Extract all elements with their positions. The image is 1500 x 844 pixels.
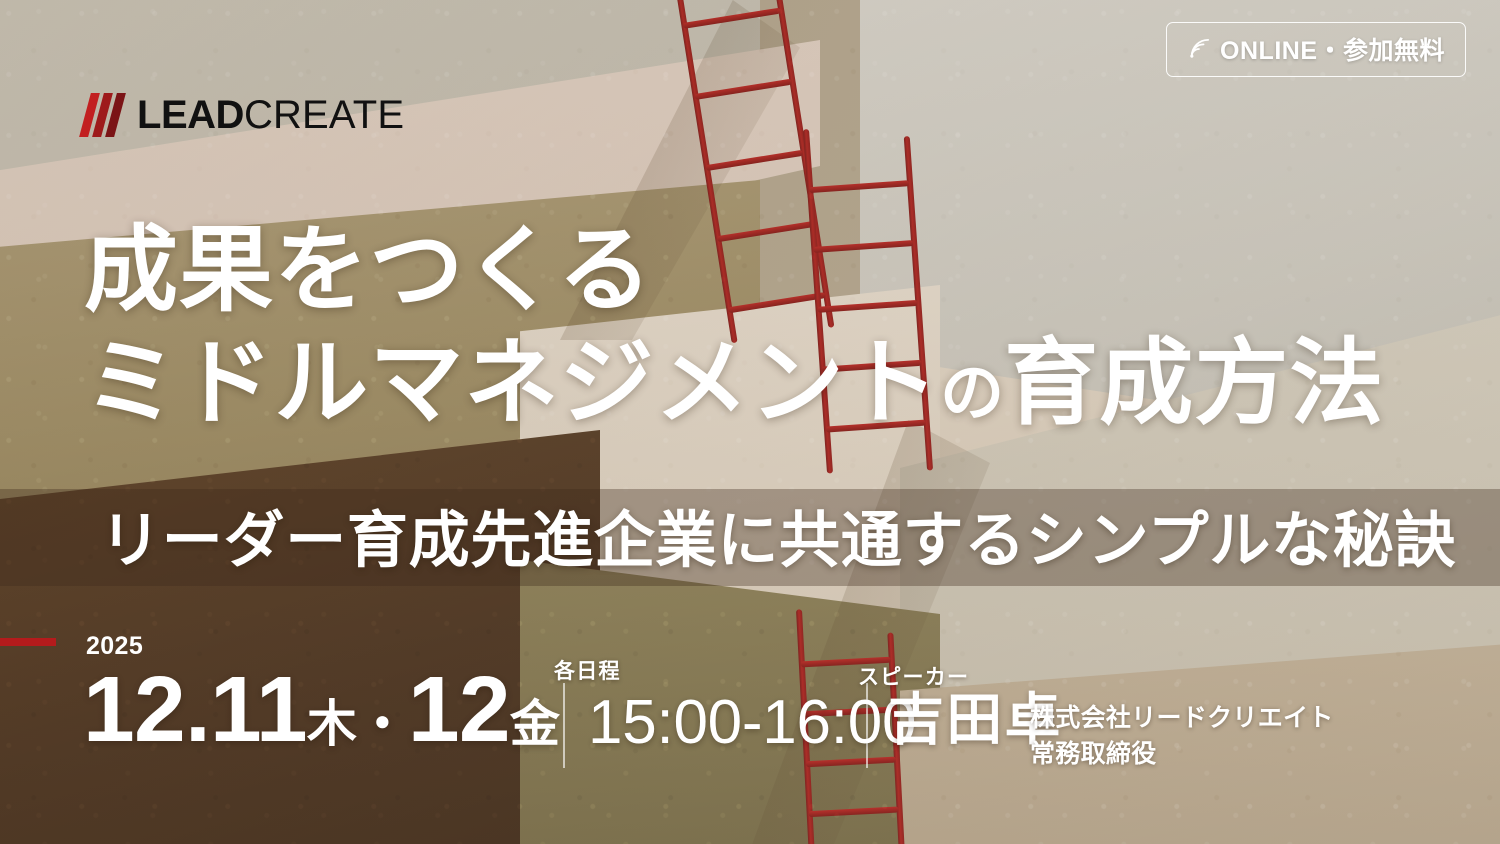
online-free-badge-label: ONLINE・参加無料 [1220, 31, 1445, 67]
content-layer: ONLINE・参加無料 LEADCREATE 成果をつくる ミドルマネジメントの… [0, 0, 1500, 844]
event-date-separator: ・ [357, 696, 408, 752]
online-free-badge: ONLINE・参加無料 [1166, 22, 1466, 77]
accent-red-bar [0, 638, 56, 646]
speaker-company: 株式会社リードクリエイト [1030, 700, 1334, 736]
headline: 成果をつくる ミドルマネジメントの育成方法 [84, 216, 1385, 436]
logo-word-create: CREATE [244, 93, 404, 137]
leadcreate-logo[interactable]: LEADCREATE [85, 93, 404, 137]
webinar-banner: ONLINE・参加無料 LEADCREATE 成果をつくる ミドルマネジメントの… [0, 0, 1500, 844]
speaker-label: スピーカー [858, 661, 969, 691]
headline-line-1: 成果をつくる [84, 216, 1385, 323]
schedule-label: 各日程 [554, 655, 621, 685]
event-time: 15:00-16:00 [588, 692, 916, 754]
three-slashes-icon [85, 93, 120, 137]
event-dow-1: 木 [307, 696, 358, 752]
speaker-affiliation: 株式会社リードクリエイト 常務取締役 [1030, 700, 1334, 773]
headline-line-2: ミドルマネジメントの育成方法 [84, 329, 1385, 436]
logo-word-lead: LEAD [137, 93, 244, 137]
headline-line-2-part-b: 育成方法 [1004, 330, 1385, 435]
speaker-job-title: 常務取締役 [1030, 736, 1334, 772]
event-dow-2: 金 [510, 696, 561, 752]
wifi-icon [1187, 38, 1211, 60]
headline-line-2-part-a: ミドルマネジメント [84, 330, 940, 435]
headline-line-2-particle: の [940, 357, 1004, 429]
subtitle: リーダー育成先進企業に共通するシンプルな秘訣 [100, 501, 1456, 580]
event-date-2: 12 [408, 657, 510, 761]
footer-divider-1 [563, 683, 565, 768]
event-dates: 12.11木・12金 [83, 663, 560, 756]
logo-wordmark: LEADCREATE [137, 95, 404, 135]
event-date-1: 12.11 [83, 657, 307, 761]
